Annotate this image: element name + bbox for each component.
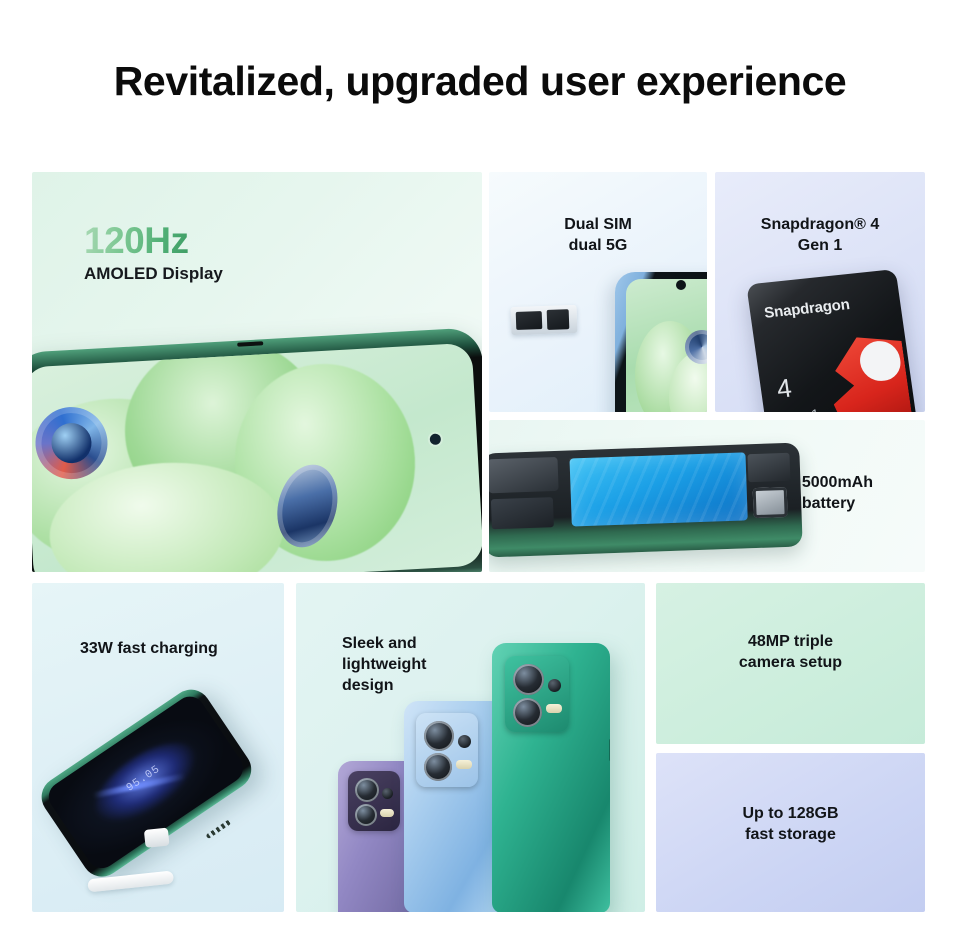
snapdragon-chip-image: Snapdragon 4 Gen 1: [746, 269, 918, 412]
phone-green-image: [492, 643, 610, 912]
display-subtitle: AMOLED Display: [84, 264, 223, 284]
camera-label: 48MP triple camera setup: [656, 631, 925, 673]
phone-charging-image: 95.05: [32, 650, 284, 912]
power-button-icon: [609, 739, 610, 761]
chip-number-text: 4: [775, 373, 794, 405]
camera-module-green: [505, 656, 569, 732]
battery-label: 5000mAh battery: [802, 472, 873, 514]
phone-sim-image: [615, 272, 707, 412]
feature-card-fast-charging[interactable]: 33W fast charging 95.05: [32, 583, 284, 912]
front-camera-icon: [430, 434, 442, 446]
fast-charging-label: 33W fast charging: [80, 638, 218, 659]
snapdragon-dragon-icon: [825, 333, 915, 412]
display-headline: 120Hz: [84, 220, 188, 262]
usb-c-plug-icon: [144, 828, 170, 848]
earpiece-icon: [237, 341, 263, 346]
speaker-grille-icon: [206, 819, 232, 839]
camera-module-purple: [348, 771, 400, 831]
phone-battery-cutaway-image: [489, 442, 803, 557]
phone-display-image: [32, 327, 482, 572]
charging-percent-readout: 95.05: [65, 723, 223, 835]
camera-module-blue: [416, 713, 478, 787]
product-feature-page: Revitalized, upgraded user experience 12…: [0, 0, 960, 949]
snapdragon-label: Snapdragon® 4 Gen 1: [715, 214, 925, 256]
feature-card-dual-sim[interactable]: Dual SIM dual 5G: [489, 172, 707, 412]
chip-gen-text: Gen 1: [780, 406, 820, 412]
feature-card-battery[interactable]: 5000mAh battery: [489, 420, 925, 572]
chip-brand-text: Snapdragon: [763, 296, 850, 322]
dual-sim-label: Dual SIM dual 5G: [489, 214, 707, 256]
sim-tray-icon: [511, 305, 578, 335]
feature-card-storage[interactable]: Up to 128GB fast storage: [656, 753, 925, 912]
feature-card-display[interactable]: 120Hz AMOLED Display: [32, 172, 482, 572]
feature-card-snapdragon[interactable]: Snapdragon® 4 Gen 1 Snapdragon 4 Gen 1: [715, 172, 925, 412]
battery-cell-icon: [570, 452, 748, 526]
storage-label: Up to 128GB fast storage: [656, 803, 925, 845]
design-label: Sleek and lightweight design: [342, 633, 426, 696]
feature-card-design[interactable]: Sleek and lightweight design: [296, 583, 645, 912]
page-title: Revitalized, upgraded user experience: [0, 58, 960, 105]
feature-card-camera[interactable]: 48MP triple camera setup: [656, 583, 925, 744]
